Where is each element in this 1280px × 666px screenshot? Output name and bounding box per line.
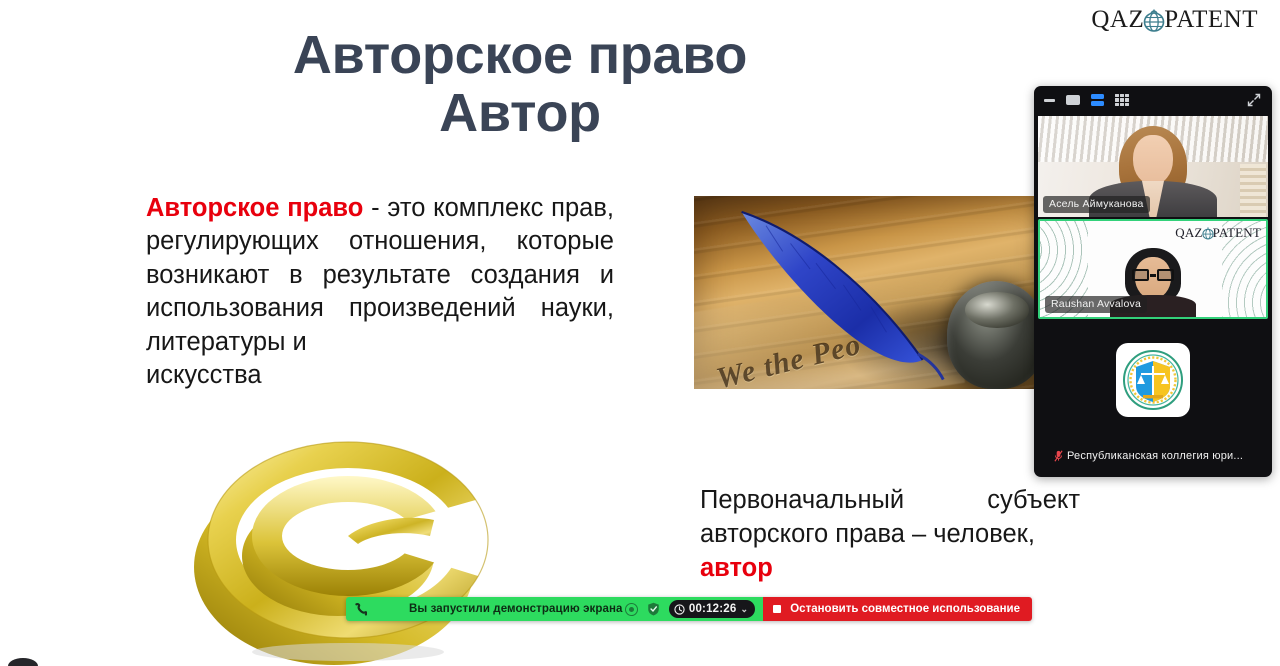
participant-1-face xyxy=(1133,135,1173,185)
participant-2-name-badge: Raushan Avvalova xyxy=(1045,296,1147,313)
participant-2-name: Raushan Avvalova xyxy=(1051,298,1141,310)
author-subject-body: Первоначальный субъект авторского права … xyxy=(700,486,1080,548)
title-line-2: Автор xyxy=(120,84,920,142)
participant-3-name-badge: Республиканская коллегия юри... xyxy=(1048,448,1249,465)
record-indicator-icon[interactable] xyxy=(625,603,638,616)
video-participants-panel[interactable]: Асель Аймуканова QAZ PATENT xyxy=(1034,86,1272,477)
security-shield-icon[interactable] xyxy=(647,602,660,616)
participant-1-name-badge: Асель Аймуканова xyxy=(1043,196,1150,213)
stop-square-icon xyxy=(773,605,781,613)
quill-feather-photo: We the Peo xyxy=(694,196,1050,389)
minimize-icon[interactable] xyxy=(1044,99,1055,102)
split-view-icon[interactable] xyxy=(1091,94,1104,106)
gold-copyright-symbol xyxy=(172,424,524,666)
clock-icon xyxy=(674,604,685,615)
justice-scales-emblem-icon xyxy=(1116,343,1190,417)
chevron-down-icon[interactable]: ⌄ xyxy=(740,604,748,615)
watermark-text-right: PATENT xyxy=(1213,225,1261,241)
screen-share-toolbar[interactable]: Вы запустили демонстрацию экрана xyxy=(346,597,1032,621)
maximize-icon[interactable] xyxy=(1066,95,1080,105)
shelf-backdrop xyxy=(1240,164,1266,217)
definition-paragraph: Авторское право - это комплекс прав, рег… xyxy=(146,192,614,392)
share-status-section: Вы запустили демонстрацию экрана xyxy=(346,597,763,621)
title-line-1: Авторское право xyxy=(293,25,747,85)
share-status-label: Вы запустили демонстрацию экрана xyxy=(409,603,623,615)
qazpatent-logo-text-left: QAZ xyxy=(1091,6,1144,34)
expand-arrows-icon[interactable] xyxy=(1246,92,1262,108)
qazpatent-logo: QAZ PATENT xyxy=(1091,6,1258,34)
video-tile-participant-3[interactable]: Республиканская коллегия юри... xyxy=(1038,323,1268,473)
definition-highlight: Авторское право xyxy=(146,194,363,222)
mic-muted-icon xyxy=(1054,450,1063,462)
grid-view-icon[interactable] xyxy=(1115,94,1129,107)
participant-3-name: Республиканская коллегия юри... xyxy=(1067,450,1243,462)
phone-handset-icon[interactable] xyxy=(354,603,367,616)
share-timer-value: 00:12:26 xyxy=(689,603,737,615)
blue-feather-icon xyxy=(722,204,957,382)
qazpatent-watermark: QAZ PATENT xyxy=(1175,225,1261,241)
video-tile-participant-2[interactable]: QAZ PATENT Raushan Avvalova xyxy=(1038,219,1268,319)
watermark-text-left: QAZ xyxy=(1175,225,1202,241)
video-tile-participant-1[interactable]: Асель Аймуканова xyxy=(1038,116,1268,217)
author-subject-paragraph: Первоначальный субъект авторского права … xyxy=(700,484,1080,586)
share-timer[interactable]: 00:12:26 ⌄ xyxy=(669,600,755,618)
qazpatent-logo-text-right: PATENT xyxy=(1164,6,1258,34)
ink-pot xyxy=(947,281,1047,389)
author-subject-highlight: автор xyxy=(700,554,773,582)
stop-share-button[interactable]: Остановить совместное использование xyxy=(763,597,1032,621)
video-panel-toolbar xyxy=(1034,86,1272,114)
definition-last-word: искусства xyxy=(146,359,614,392)
patent-globe-icon xyxy=(1141,7,1167,33)
slide-share-screen: QAZ PATENT Авторское право Автор Авторск… xyxy=(0,0,1280,666)
bottom-left-artifact xyxy=(8,658,38,666)
participant-2-glasses xyxy=(1132,269,1174,281)
page-title: Авторское право Автор xyxy=(120,26,920,143)
participant-1-name: Асель Аймуканова xyxy=(1049,198,1144,210)
stop-share-label: Остановить совместное использование xyxy=(790,603,1020,615)
